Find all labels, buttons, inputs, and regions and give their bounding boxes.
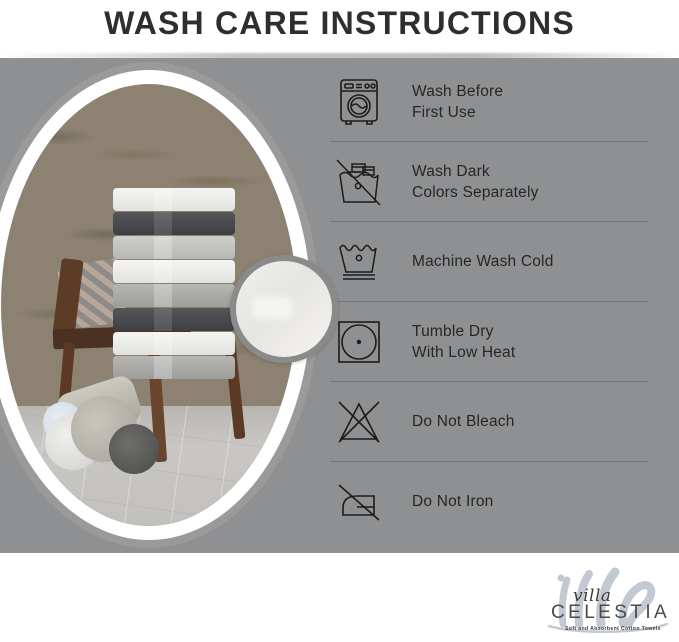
towel-folded-gray xyxy=(113,284,235,307)
care-instruction-label: Wash Before First Use xyxy=(412,81,503,123)
do-not-iron-icon xyxy=(330,473,388,531)
infographic-page: WASH CARE INSTRUCTIONS xyxy=(0,0,679,642)
page-title: WASH CARE INSTRUCTIONS xyxy=(0,0,679,46)
towel-folded-white xyxy=(113,332,235,355)
care-instruction-label: Wash Dark Colors Separately xyxy=(412,161,539,203)
brand-logo: villa CELESTIA Soft and Absorbent Cotton… xyxy=(545,566,673,640)
care-instruction-row: Wash Dark Colors Separately xyxy=(330,142,648,222)
towel-folded-charcoal xyxy=(113,308,235,331)
tumble-dry-low-heat-icon xyxy=(330,313,388,371)
care-instruction-list: Wash Before First Use Wash Dark Colors S… xyxy=(330,62,648,541)
washing-machine-icon xyxy=(330,73,388,131)
magnifier-zoom-circle xyxy=(230,255,338,363)
magnifier-highlight xyxy=(253,297,291,318)
care-instruction-label: Tumble Dry With Low Heat xyxy=(412,321,515,363)
towel-folded-gray xyxy=(113,356,235,379)
care-instruction-label: Do Not Iron xyxy=(412,491,493,512)
care-instruction-row: Do Not Bleach xyxy=(330,382,648,462)
care-instruction-row: Wash Before First Use xyxy=(330,62,648,142)
rolled-towel-dark xyxy=(109,424,159,474)
folded-towel-stack xyxy=(113,188,235,380)
towel-folded-white xyxy=(113,188,235,211)
logo-tagline: Soft and Absorbent Cotton Towels xyxy=(565,626,661,632)
towel-folded-light-gray xyxy=(113,236,235,259)
machine-wash-cold-icon xyxy=(330,233,388,291)
towel-folded-white xyxy=(113,260,235,283)
logo-brand-text: CELESTIA xyxy=(551,602,670,624)
care-instruction-row: Do Not Iron xyxy=(330,462,648,541)
towel-folded-charcoal xyxy=(113,212,235,235)
care-instruction-label: Machine Wash Cold xyxy=(412,251,554,272)
care-instruction-row: Machine Wash Cold xyxy=(330,222,648,302)
care-instruction-row: Tumble Dry With Low Heat xyxy=(330,302,648,382)
care-instruction-label: Do Not Bleach xyxy=(412,411,515,432)
wash-dark-colors-separately-icon xyxy=(330,153,388,211)
do-not-bleach-icon xyxy=(330,393,388,451)
